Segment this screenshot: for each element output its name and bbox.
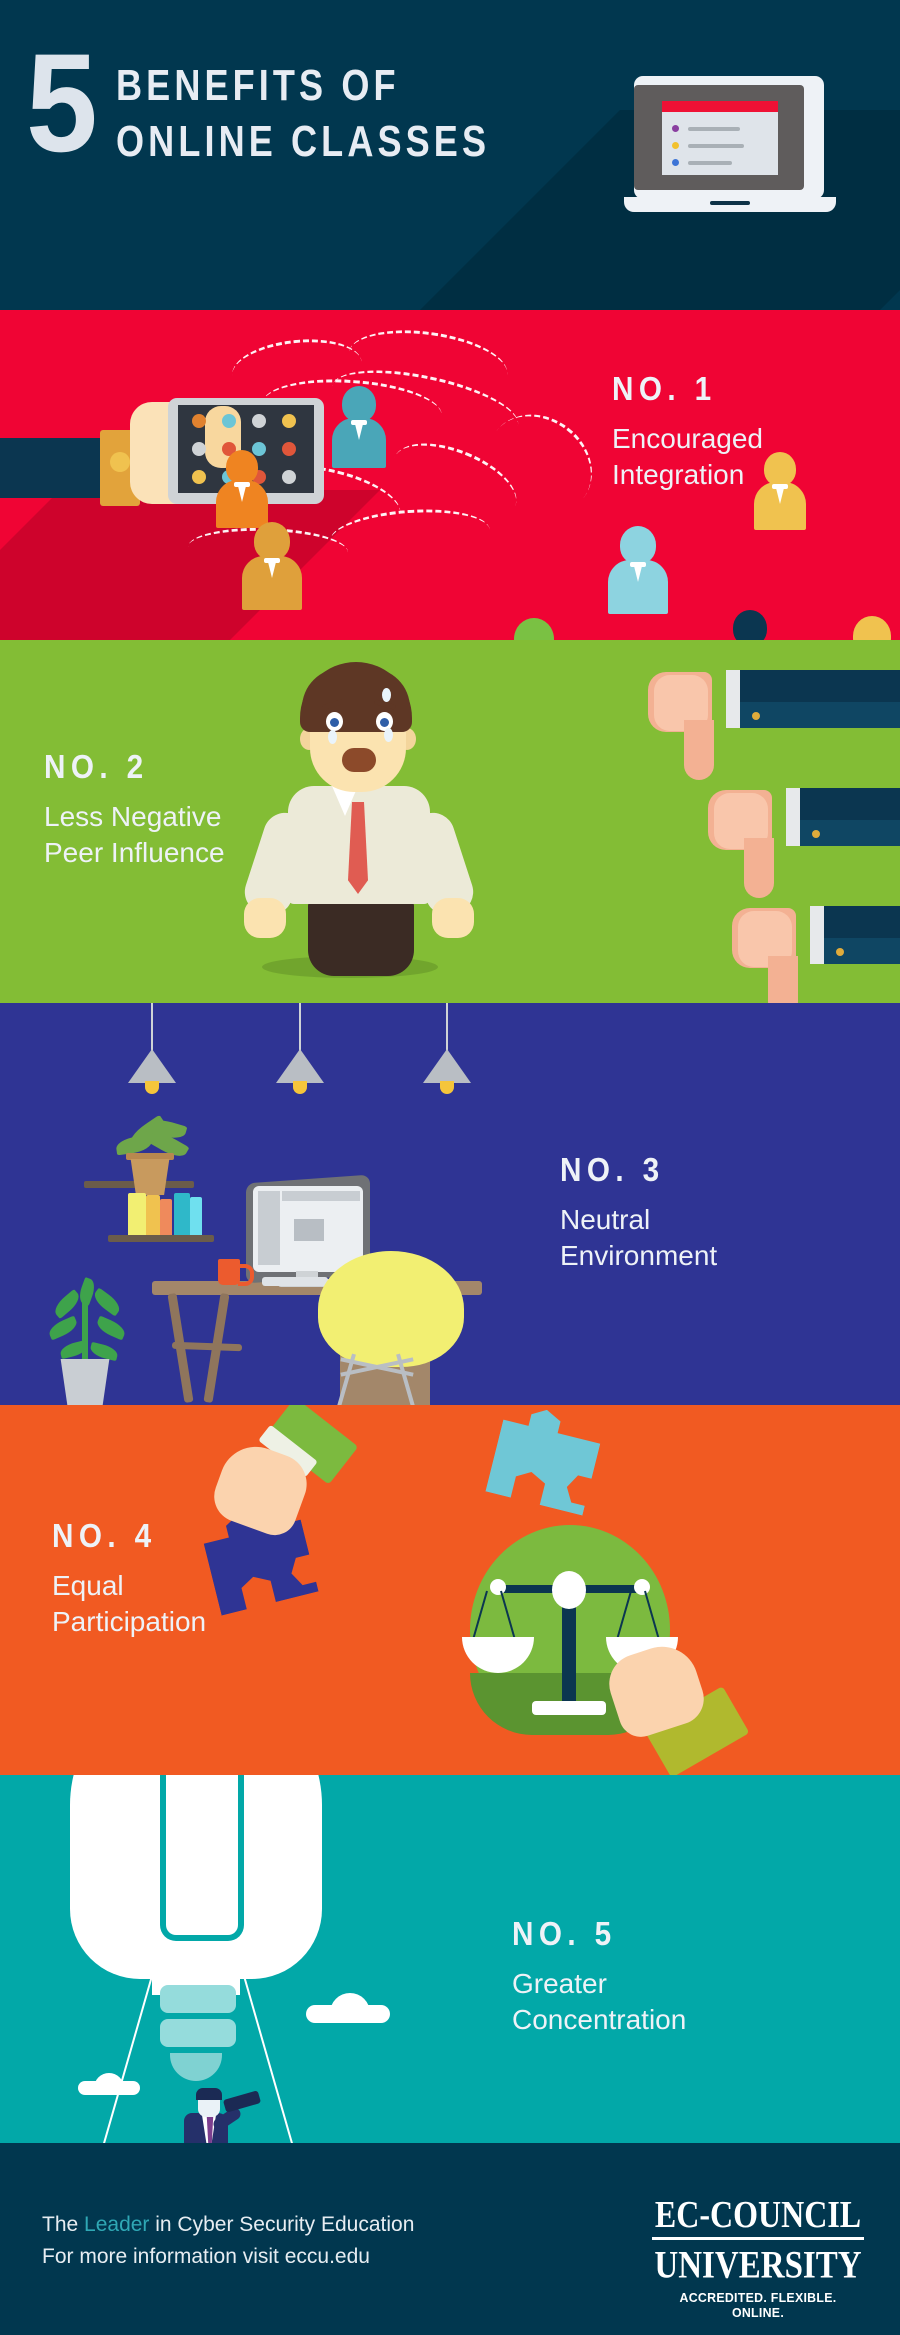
section-4-caption-line-1: Equal xyxy=(52,1569,206,1603)
hair-top xyxy=(302,668,410,708)
cloud-top xyxy=(94,2073,124,2091)
sweat-drop xyxy=(382,688,391,702)
title-line-2: ONLINE CLASSES xyxy=(116,114,490,170)
section-2-text: NO. 2 Less Negative Peer Influence xyxy=(44,748,225,870)
wrist-band-dot xyxy=(110,452,130,472)
scale-knob xyxy=(552,1571,586,1609)
section-3-caption-line-2: Environment xyxy=(560,1239,717,1273)
telescope-icon xyxy=(223,2090,261,2112)
scale-foot xyxy=(532,1701,606,1715)
book xyxy=(146,1195,160,1235)
businessman-with-telescope xyxy=(178,2091,240,2143)
mug-handle xyxy=(238,1264,254,1286)
section-5-caption-line-1: Greater xyxy=(512,1967,686,2001)
section-4-caption-line-2: Participation xyxy=(52,1605,206,1639)
page-title: 5 BENEFITS OF ONLINE CLASSES xyxy=(26,48,572,170)
legs xyxy=(308,900,414,976)
coffee-mug xyxy=(218,1259,240,1285)
laptop-trackpad xyxy=(710,201,750,205)
title-number: 5 xyxy=(26,48,94,158)
open-mouth xyxy=(342,748,376,772)
section-3-caption-line-1: Neutral xyxy=(560,1203,717,1237)
list-bullet-purple xyxy=(672,125,679,132)
section-2-caption-line-1: Less Negative xyxy=(44,800,225,834)
lower-shelf xyxy=(108,1235,214,1242)
title-lines: BENEFITS OF ONLINE CLASSES xyxy=(116,58,572,170)
bulb-screw-ring xyxy=(160,2019,236,2047)
section-1-caption-line-2: Integration xyxy=(612,458,763,492)
laptop-screen xyxy=(634,85,804,190)
browser-titlebar xyxy=(662,101,778,112)
section-1-number: NO. 1 xyxy=(612,370,748,408)
right-hand xyxy=(432,898,474,938)
section-5: NO. 5 Greater Concentration xyxy=(0,1775,900,2143)
header-band: 5 BENEFITS OF ONLINE CLASSES xyxy=(0,0,900,310)
list-line-3 xyxy=(688,161,732,165)
bulb-screw-tip xyxy=(170,2053,222,2081)
scale-right-pivot xyxy=(634,1579,650,1595)
section-1: NO. 1 Encouraged Integration xyxy=(0,310,900,640)
scale-post xyxy=(562,1591,576,1711)
footer-text: The Leader in Cyber Security Education F… xyxy=(42,2209,414,2273)
left-hand xyxy=(244,898,286,938)
crying-man-figure xyxy=(270,662,480,982)
bulb-screw-ring xyxy=(160,1985,236,2013)
section-2-caption-line-2: Peer Influence xyxy=(44,836,225,870)
title-line-1: BENEFITS OF xyxy=(116,58,490,114)
right-tear xyxy=(384,728,393,742)
section-2-number: NO. 2 xyxy=(44,748,207,786)
scale-left-pivot xyxy=(490,1579,506,1595)
section-5-number: NO. 5 xyxy=(512,1915,669,1953)
hair xyxy=(196,2088,222,2100)
section-1-caption-line-1: Encouraged xyxy=(612,422,763,456)
logo-line-1: EC-COUNCIL xyxy=(652,2195,864,2234)
keyboard xyxy=(262,1277,328,1286)
section-3-number: NO. 3 xyxy=(560,1151,701,1189)
browser-window xyxy=(662,101,778,175)
chair-seat xyxy=(318,1251,464,1367)
logo-line-2: UNIVERSITY xyxy=(652,2245,864,2286)
section-4: NO. 4 Equal Participation xyxy=(0,1405,900,1775)
screen-toolbar xyxy=(282,1191,360,1201)
section-2: NO. 2 Less Negative Peer Influence xyxy=(0,640,900,1003)
footer-band: The Leader in Cyber Security Education F… xyxy=(0,2143,900,2335)
section-4-number: NO. 4 xyxy=(52,1517,191,1555)
left-tear xyxy=(328,730,337,744)
puzzle-piece-teal xyxy=(485,1405,606,1516)
footer-tagline: The Leader in Cyber Security Education xyxy=(42,2209,414,2241)
lightbulb-filament xyxy=(160,1775,244,1941)
laptop-icon xyxy=(624,76,836,218)
eccu-logo[interactable]: EC-COUNCIL UNIVERSITY ACCREDITED. FLEXIB… xyxy=(652,2195,864,2320)
footer-tagline-post: in Cyber Security Education xyxy=(149,2213,414,2236)
section-5-text: NO. 5 Greater Concentration xyxy=(512,1915,686,2037)
footer-line-2: For more information visit eccu.edu xyxy=(42,2241,414,2273)
right-pupil xyxy=(380,718,389,727)
list-bullet-blue xyxy=(672,159,679,166)
footer-tagline-pre: The xyxy=(42,2213,84,2236)
section-5-caption-line-2: Concentration xyxy=(512,2003,686,2037)
list-bullet-yellow xyxy=(672,142,679,149)
book xyxy=(190,1197,202,1235)
section-4-text: NO. 4 Equal Participation xyxy=(52,1517,206,1639)
book xyxy=(174,1193,190,1235)
cloud-top xyxy=(330,1993,370,2017)
logo-tagline: ACCREDITED. FLEXIBLE. ONLINE. xyxy=(657,2290,858,2320)
screen-sidebar xyxy=(258,1191,280,1265)
screen-window xyxy=(294,1219,324,1241)
list-line-2 xyxy=(688,144,744,148)
section-1-text: NO. 1 Encouraged Integration xyxy=(612,370,763,492)
book xyxy=(128,1193,146,1235)
book xyxy=(160,1199,172,1235)
section-3-text: NO. 3 Neutral Environment xyxy=(560,1151,717,1273)
list-line-1 xyxy=(688,127,740,131)
infographic-page: 5 BENEFITS OF ONLINE CLASSES xyxy=(0,0,900,2335)
left-pupil xyxy=(330,718,339,727)
logo-divider xyxy=(652,2237,864,2240)
section-3: NO. 3 Neutral Environment xyxy=(0,1003,900,1405)
footer-tagline-accent: Leader xyxy=(84,2213,149,2236)
